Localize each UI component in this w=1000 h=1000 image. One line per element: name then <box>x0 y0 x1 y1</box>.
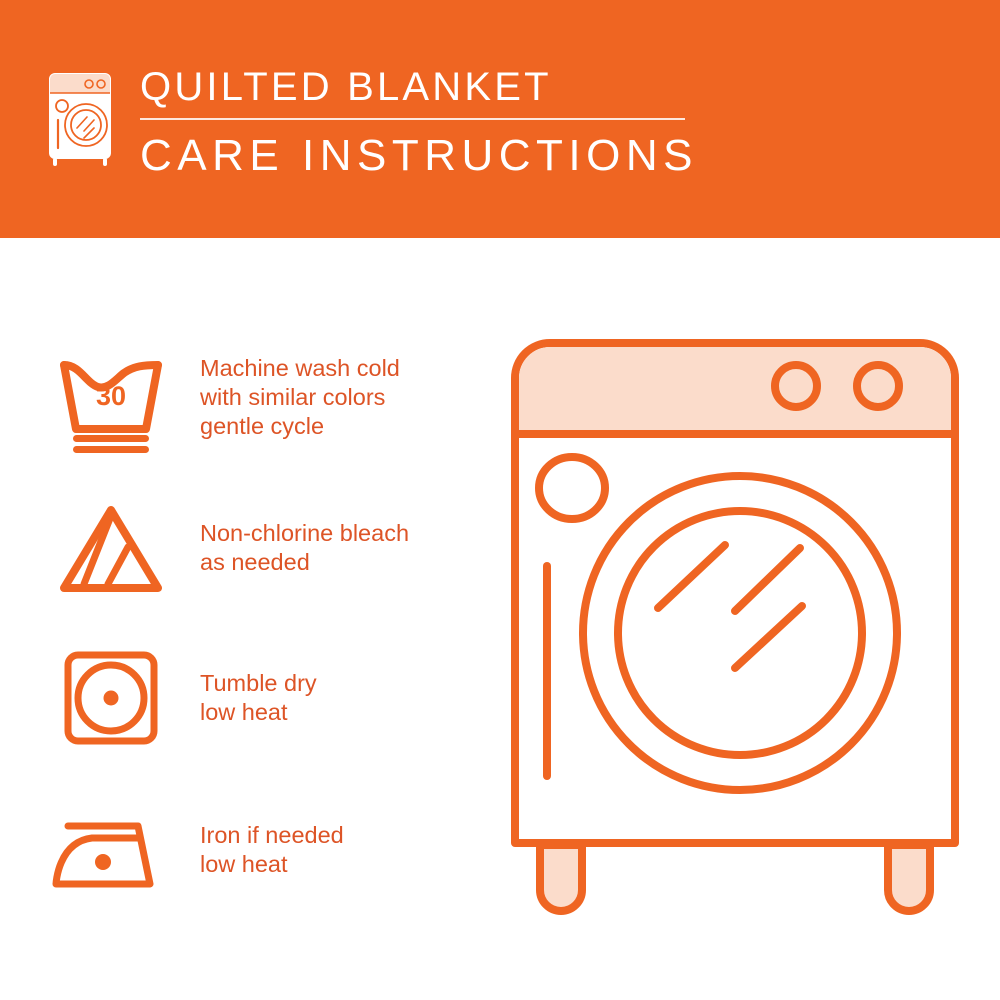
care-instruction-list: 30 Machine wash cold with similar colors… <box>0 238 470 1000</box>
header-title-block: QUILTED BLANKET CARE INSTRUCTIONS <box>140 64 760 181</box>
care-text-tumble-dry: Tumble dry low heat <box>200 669 317 727</box>
leg-right <box>888 845 930 911</box>
iron-low-heat-symbol <box>46 794 176 914</box>
control-panel <box>519 347 951 434</box>
tumble-dry-low-heat-symbol <box>46 638 176 758</box>
machine-wash-30-gentle-symbol: 30 <box>46 338 176 458</box>
care-text-iron: Iron if needed low heat <box>200 821 344 879</box>
care-row-iron: Iron if needed low heat <box>0 788 470 938</box>
care-text-machine-wash: Machine wash cold with similar colors ge… <box>200 354 400 441</box>
washing-machine-icon <box>44 68 116 172</box>
leg-left <box>540 845 582 911</box>
care-row-machine-wash: 30 Machine wash cold with similar colors… <box>0 338 470 488</box>
care-instructions-page: QUILTED BLANKET CARE INSTRUCTIONS 30 Mac… <box>0 0 1000 1000</box>
page-title-secondary: CARE INSTRUCTIONS <box>140 131 760 181</box>
care-text-bleach: Non-chlorine bleach as needed <box>200 519 409 577</box>
front-load-washing-machine-illustration <box>490 318 980 938</box>
non-chlorine-bleach-symbol <box>46 490 176 610</box>
wash-temperature-label: 30 <box>96 381 126 411</box>
page-title-primary: QUILTED BLANKET <box>140 64 760 110</box>
care-row-tumble-dry: Tumble dry low heat <box>0 638 470 788</box>
care-row-bleach: Non-chlorine bleach as needed <box>0 488 470 638</box>
title-divider <box>140 118 685 120</box>
header-banner: QUILTED BLANKET CARE INSTRUCTIONS <box>0 0 1000 238</box>
